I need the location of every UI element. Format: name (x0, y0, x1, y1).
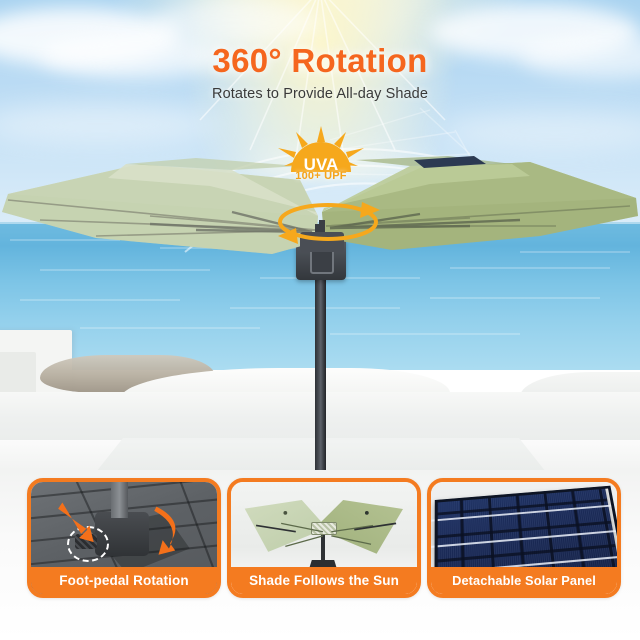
feature-card-foot-pedal-rotation[interactable]: Foot-pedal Rotation (27, 478, 221, 598)
feature-card-shade-follows-the-sun[interactable]: Shade Follows the Sun (227, 478, 421, 598)
product-feature-graphic: UVA 100+ UPF 360° Rotation Rotates to Pr… (0, 0, 640, 640)
cloud (150, 0, 320, 46)
feature-card-detachable-solar-panel[interactable]: Detachable Solar Panel (427, 478, 621, 598)
feature-card-row: Foot-pedal Rotation (0, 470, 640, 640)
hero-scene: UVA 100+ UPF 360° Rotation Rotates to Pr… (0, 0, 640, 470)
card-label: Shade Follows the Sun (231, 567, 417, 594)
page-title: 360° Rotation (0, 42, 640, 80)
sun-rays-icon: UVA (268, 126, 374, 174)
heading-block: 360° Rotation Rotates to Provide All-day… (0, 42, 640, 102)
card-label: Detachable Solar Panel (431, 567, 617, 594)
upf-rating-text: 100+ UPF (268, 170, 374, 182)
uva-badge: UVA 100+ UPF (268, 126, 374, 188)
page-subtitle: Rotates to Provide All-day Shade (0, 86, 640, 102)
circular-rotation-arrow-icon (258, 188, 398, 258)
card-label: Foot-pedal Rotation (31, 567, 217, 594)
